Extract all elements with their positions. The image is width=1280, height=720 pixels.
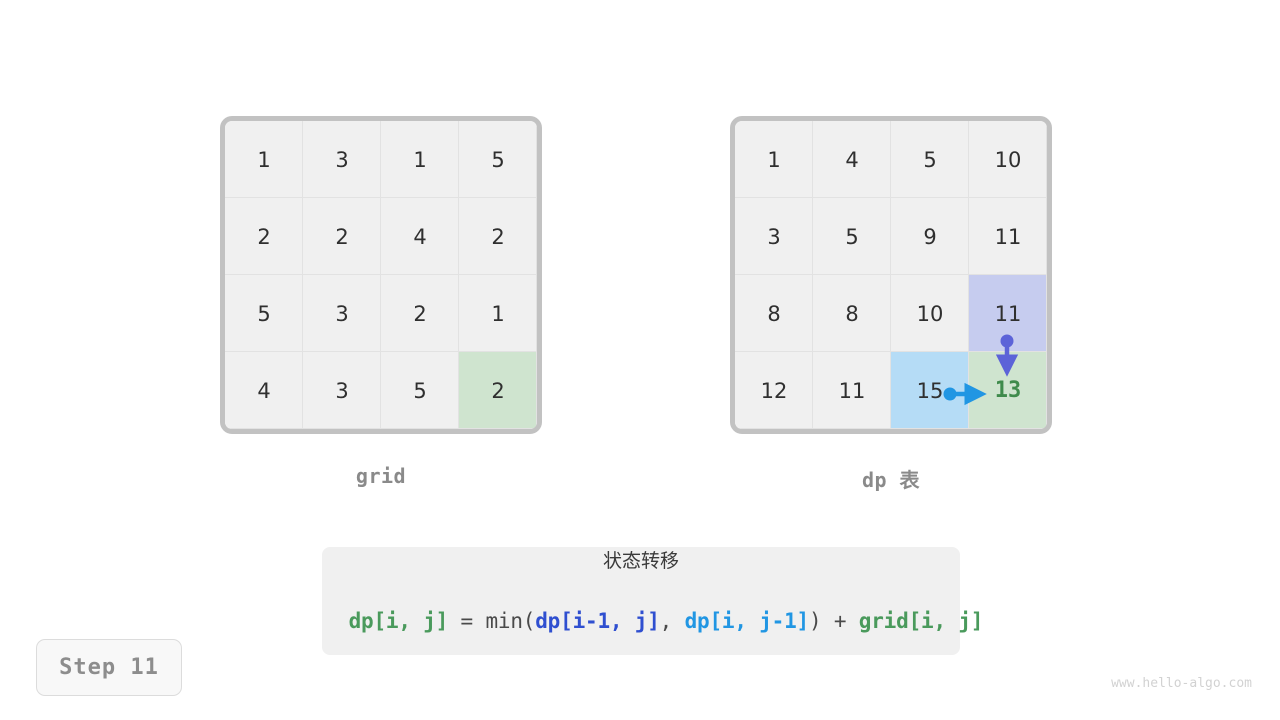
grid-table-label: grid bbox=[220, 464, 542, 488]
dp-table-container: 145103591188101112111513 dp 表 bbox=[730, 116, 1052, 434]
state-transition-title: 状态转移 bbox=[603, 546, 679, 573]
formula-min-close: ) bbox=[809, 609, 821, 633]
cell-grid-2-2: 2 bbox=[381, 275, 459, 352]
formula-dp-current: dp[i, j] bbox=[349, 609, 449, 633]
cell-dp-2-0: 8 bbox=[735, 275, 813, 352]
formula-min-open: min( bbox=[485, 609, 535, 633]
cell-dp-0-1: 4 bbox=[813, 121, 891, 198]
cell-dp-0-0: 1 bbox=[735, 121, 813, 198]
dp-matrix: 145103591188101112111513 bbox=[730, 116, 1052, 434]
formula-dp-left: dp[i, j-1] bbox=[685, 609, 809, 633]
cell-grid-0-3: 5 bbox=[459, 121, 537, 198]
cell-grid-1-0: 2 bbox=[225, 198, 303, 275]
grid-table-container: 1315224253214352 grid bbox=[220, 116, 542, 434]
cell-grid-1-2: 4 bbox=[381, 198, 459, 275]
cell-dp-1-0: 3 bbox=[735, 198, 813, 275]
cell-grid-1-1: 2 bbox=[303, 198, 381, 275]
cell-grid-2-3: 1 bbox=[459, 275, 537, 352]
cell-dp-2-2: 10 bbox=[891, 275, 969, 352]
cell-dp-3-3: 13 bbox=[969, 352, 1047, 429]
grid-matrix: 1315224253214352 bbox=[220, 116, 542, 434]
cell-dp-2-3: 11 bbox=[969, 275, 1047, 352]
cell-grid-3-2: 5 bbox=[381, 352, 459, 429]
cell-dp-0-2: 5 bbox=[891, 121, 969, 198]
cell-grid-2-0: 5 bbox=[225, 275, 303, 352]
formula-equals: = bbox=[448, 609, 485, 633]
cell-dp-3-1: 11 bbox=[813, 352, 891, 429]
dp-table-label: dp 表 bbox=[730, 464, 1052, 493]
cell-dp-0-3: 10 bbox=[969, 121, 1047, 198]
cell-grid-3-1: 3 bbox=[303, 352, 381, 429]
cell-grid-1-3: 2 bbox=[459, 198, 537, 275]
watermark: www.hello-algo.com bbox=[1111, 676, 1252, 691]
cell-dp-1-3: 11 bbox=[969, 198, 1047, 275]
formula-grid: grid[i, j] bbox=[859, 609, 983, 633]
cell-grid-3-3: 2 bbox=[459, 352, 537, 429]
cell-dp-1-2: 9 bbox=[891, 198, 969, 275]
cell-dp-1-1: 5 bbox=[813, 198, 891, 275]
cell-dp-3-0: 12 bbox=[735, 352, 813, 429]
cell-grid-0-2: 1 bbox=[381, 121, 459, 198]
cell-grid-3-0: 4 bbox=[225, 352, 303, 429]
step-badge: Step 11 bbox=[36, 639, 182, 696]
cell-dp-2-1: 8 bbox=[813, 275, 891, 352]
state-transition-formula: dp[i, j] = min(dp[i-1, j], dp[i, j-1]) +… bbox=[299, 585, 983, 657]
formula-dp-up: dp[i-1, j] bbox=[535, 609, 659, 633]
cell-dp-3-2: 15 bbox=[891, 352, 969, 429]
formula-comma: , bbox=[660, 609, 685, 633]
state-transition-box: 状态转移 dp[i, j] = min(dp[i-1, j], dp[i, j-… bbox=[322, 547, 960, 655]
cell-grid-0-1: 3 bbox=[303, 121, 381, 198]
cell-grid-0-0: 1 bbox=[225, 121, 303, 198]
formula-plus: + bbox=[821, 609, 858, 633]
cell-grid-2-1: 3 bbox=[303, 275, 381, 352]
